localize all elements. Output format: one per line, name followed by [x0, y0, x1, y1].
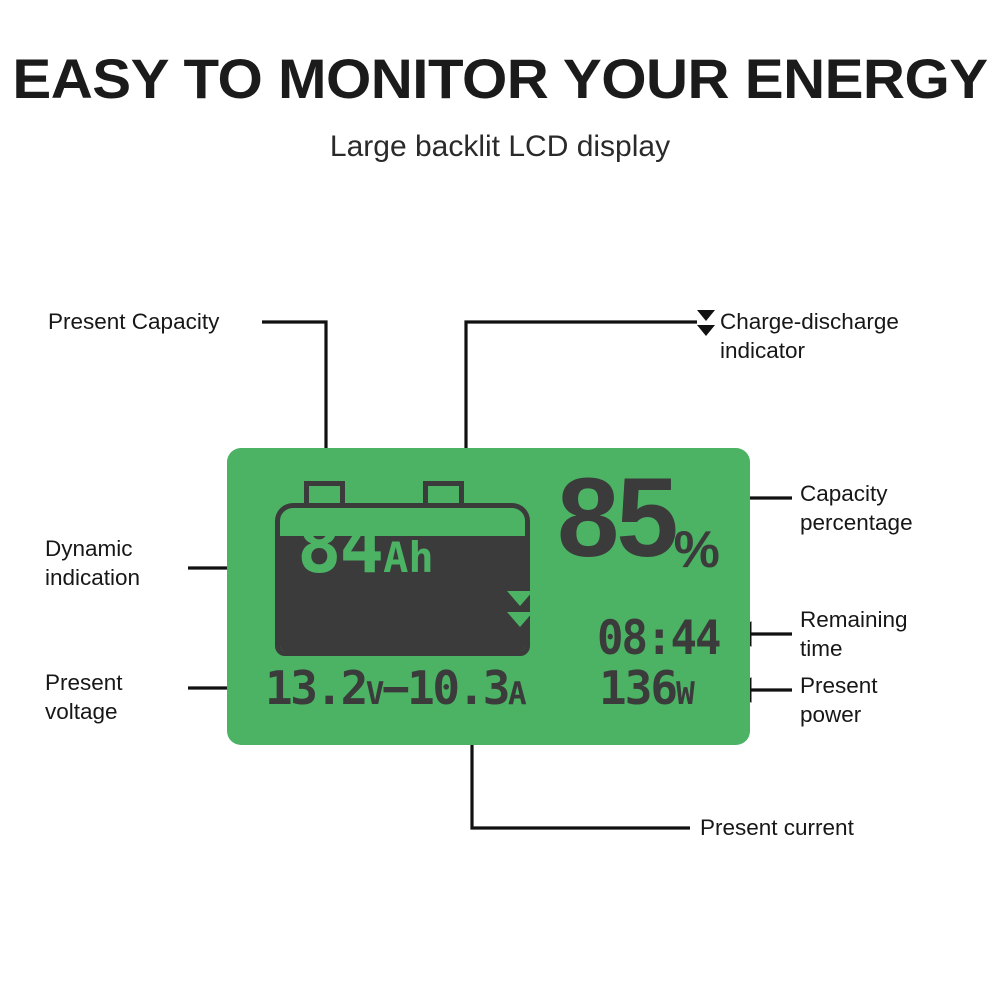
capacity-value: 84 — [297, 517, 382, 578]
power-unit: W — [676, 676, 693, 712]
voltage-unit: V — [366, 676, 382, 712]
callout-present-capacity: Present Capacity — [48, 307, 263, 336]
infographic-canvas: EASY TO MONITOR YOUR ENERGY Large backli… — [0, 0, 1000, 1000]
lcd-display-panel: 84 Ah 85 % 08:44 13.2 V − 10.3 A 136 W — [227, 448, 750, 745]
page-title: EASY TO MONITOR YOUR ENERGY — [0, 46, 1000, 111]
capacity-unit: Ah — [383, 541, 434, 575]
capacity-percentage-readout: 85 % — [557, 466, 720, 576]
remaining-time-readout: 08:44 — [597, 611, 719, 666]
callout-capacity-percentage: Capacity percentage — [800, 479, 985, 537]
voltage-current-readout: 13.2 V − 10.3 A — [265, 661, 524, 715]
page-subtitle: Large backlit LCD display — [0, 130, 1000, 164]
callout-charge-discharge: Charge-discharge indicator — [720, 307, 980, 365]
current-unit: A — [508, 676, 524, 712]
percent-symbol: % — [674, 524, 720, 576]
percentage-value: 85 — [557, 466, 676, 569]
power-value: 136 — [599, 661, 676, 715]
value-separator: − — [382, 661, 407, 715]
current-value: 10.3 — [407, 661, 508, 715]
present-power-readout: 136 W — [599, 661, 693, 715]
double-down-triangle-icon — [697, 310, 715, 340]
callout-remaining-time: Remaining time — [800, 605, 985, 663]
voltage-value: 13.2 — [265, 661, 366, 715]
callout-present-current: Present current — [700, 813, 960, 842]
battery-icon: 84 Ah — [275, 481, 530, 656]
callout-dynamic-indication: Dynamic indication — [45, 534, 195, 592]
callout-present-power: Present power — [800, 671, 985, 729]
callout-present-voltage: Present voltage — [45, 668, 195, 726]
charge-discharge-indicator-icon — [507, 591, 533, 633]
present-capacity-readout: 84 Ah — [297, 517, 434, 578]
